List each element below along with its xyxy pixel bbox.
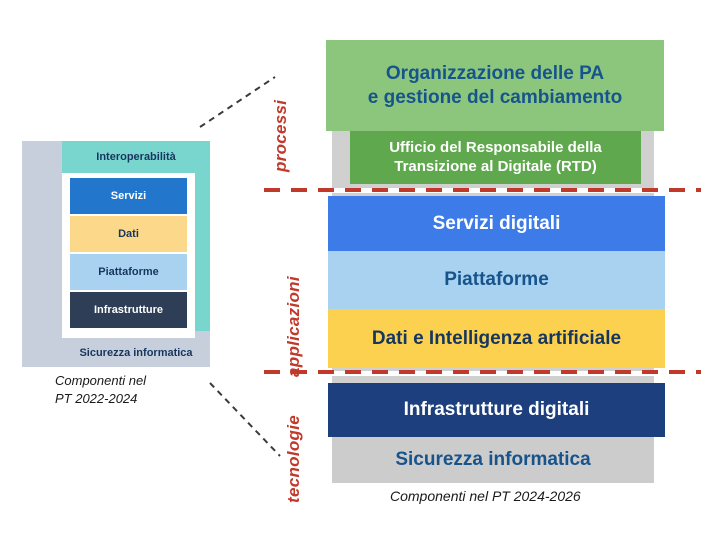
left-caption-line-2: PT 2022-2024 xyxy=(55,390,230,408)
separator-applicazioni-tecnologie xyxy=(264,370,701,374)
left-box-interoperabilita: Interoperabilità xyxy=(62,141,210,173)
tier-label-processi: processi xyxy=(271,100,291,172)
box-piattaforme: Piattaforme xyxy=(328,251,665,309)
left-box-servizi: Servizi xyxy=(70,178,187,214)
box-infrastrutture-digitali: Infrastrutture digitali xyxy=(328,383,665,437)
left-caption-line-1: Componenti nel xyxy=(55,372,230,390)
left-box-piattaforme: Piattaforme xyxy=(70,254,187,290)
tier-label-applicazioni: applicazioni xyxy=(284,276,304,377)
box-organizzazione-pa: Organizzazione delle PA e gestione del c… xyxy=(326,40,664,131)
left-diagram-caption: Componenti nel PT 2022-2024 xyxy=(55,372,230,407)
box-dati-intelligenza-artificiale: Dati e Intelligenza artificiale xyxy=(328,309,665,368)
box-ufficio-rtd: Ufficio del Responsabile della Transizio… xyxy=(350,131,641,184)
box-servizi-digitali: Servizi digitali xyxy=(328,196,665,251)
left-box-infrastrutture: Infrastrutture xyxy=(70,292,187,328)
ufficio-rtd-line-1: Ufficio del Responsabile della xyxy=(389,139,602,158)
left-diagram-pt-2022-2024: Interoperabilità Servizi Dati Piattaform… xyxy=(22,141,210,367)
organizzazione-pa-line-2: e gestione del cambiamento xyxy=(368,86,622,110)
organizzazione-pa-line-1: Organizzazione delle PA xyxy=(368,62,622,86)
diagram-canvas: Interoperabilità Servizi Dati Piattaform… xyxy=(0,0,705,538)
connector-bottom-dashed-line xyxy=(205,378,290,463)
left-box-sicurezza-informatica: Sicurezza informatica xyxy=(62,338,210,367)
separator-processi-applicazioni xyxy=(264,188,701,192)
right-diagram-caption: Componenti nel PT 2024-2026 xyxy=(390,488,690,504)
box-sicurezza-informatica: Sicurezza informatica xyxy=(332,437,654,483)
left-box-dati: Dati xyxy=(70,216,187,252)
ufficio-rtd-line-2: Transizione al Digitale (RTD) xyxy=(389,158,602,177)
tier-label-tecnologie: tecnologie xyxy=(284,415,304,503)
